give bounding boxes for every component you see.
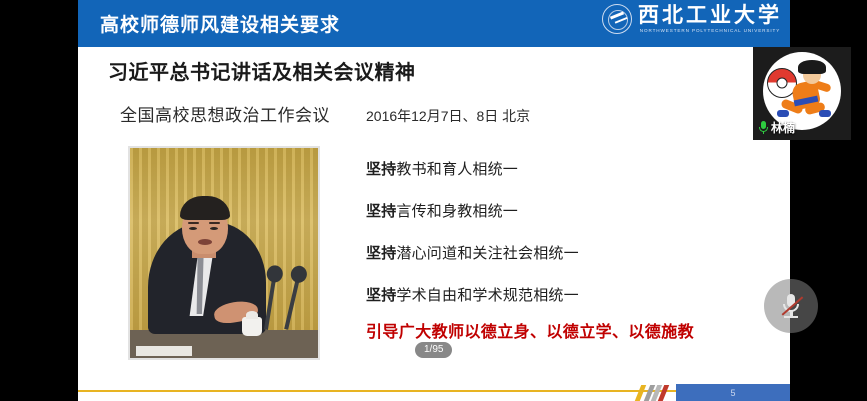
university-logo-text: 西北工业大学 NORTHWESTERN POLYTECHNICAL UNIVER… bbox=[638, 5, 782, 34]
microphone-on-icon bbox=[758, 121, 769, 134]
slide-subtitle-row: 全国高校思想政治工作会议 2016年12月7日、8日 北京 bbox=[120, 101, 530, 126]
avatar-boot-right bbox=[819, 110, 831, 117]
photo-speaker-eye-left bbox=[189, 227, 197, 230]
slide-number-block: 5 bbox=[676, 384, 790, 401]
slide-subtitle-date: 2016年12月7日、8日 北京 bbox=[366, 106, 530, 126]
slide-header-title: 高校师德师风建设相关要求 bbox=[100, 10, 340, 37]
university-seal-icon bbox=[602, 4, 632, 34]
bullet-lead: 坚持 bbox=[366, 203, 396, 220]
avatar-boot-left bbox=[777, 110, 789, 117]
photo-speaker-brow-left bbox=[188, 222, 199, 224]
photo-speaker-brow-right bbox=[209, 222, 220, 224]
mute-toggle-button[interactable] bbox=[764, 279, 818, 333]
video-participant-tile[interactable]: 林楠 bbox=[753, 47, 851, 140]
microphone-muted-icon bbox=[781, 293, 801, 319]
avatar-hair bbox=[798, 60, 826, 74]
university-logo: 西北工业大学 NORTHWESTERN POLYTECHNICAL UNIVER… bbox=[602, 4, 782, 34]
slide-footer-decoration: 5 bbox=[632, 383, 790, 401]
photo-teacup bbox=[242, 317, 262, 336]
participant-label: 林楠 bbox=[758, 119, 795, 136]
bullet-text: 潜心问道和关注社会相统一 bbox=[396, 245, 578, 262]
speaker-photo bbox=[128, 146, 320, 360]
participant-name: 林楠 bbox=[771, 119, 795, 136]
photo-papers bbox=[136, 346, 192, 356]
bullet-item: 坚持学术自由和学术规范相统一 bbox=[366, 284, 579, 305]
bullet-lead: 坚持 bbox=[366, 287, 396, 304]
slide-header-bar: 高校师德师风建设相关要求 西北工业大学 NORTHWESTERN POLYTEC… bbox=[78, 0, 790, 47]
bullet-text: 言传和身教相统一 bbox=[396, 203, 518, 220]
photo-speaker-eye-right bbox=[210, 227, 218, 230]
bullet-item: 坚持言传和身教相统一 bbox=[366, 200, 579, 221]
presentation-slide: 高校师德师风建设相关要求 西北工业大学 NORTHWESTERN POLYTEC… bbox=[78, 0, 790, 401]
screen-root: 高校师德师风建设相关要求 西北工业大学 NORTHWESTERN POLYTEC… bbox=[0, 0, 867, 401]
page-indicator-badge: 1/95 bbox=[415, 342, 452, 358]
mic-base bbox=[784, 316, 798, 319]
bullet-lead: 坚持 bbox=[366, 245, 396, 262]
university-name-en: NORTHWESTERN POLYTECHNICAL UNIVERSITY bbox=[638, 29, 782, 34]
bullet-list: 坚持教书和育人相统一 坚持言传和身教相统一 坚持潜心问道和关注社会相统一 坚持学… bbox=[366, 158, 579, 326]
bullet-text: 学术自由和学术规范相统一 bbox=[396, 287, 578, 304]
university-name-cn: 西北工业大学 bbox=[638, 5, 782, 26]
slide-subtitle-main: 全国高校思想政治工作会议 bbox=[120, 101, 330, 126]
bullet-lead: 坚持 bbox=[366, 161, 396, 178]
photo-speaker-mouth bbox=[198, 239, 212, 245]
mic-stem bbox=[763, 131, 765, 134]
slide-highlight-text: 引导广大教师以德立身、以德立学、以德施教 bbox=[366, 318, 694, 342]
bullet-item: 坚持教书和育人相统一 bbox=[366, 158, 579, 179]
slide-number: 5 bbox=[730, 388, 735, 398]
bullet-item: 坚持潜心问道和关注社会相统一 bbox=[366, 242, 579, 263]
slide-title: 习近平总书记讲话及相关会议精神 bbox=[108, 56, 416, 85]
bullet-text: 教书和育人相统一 bbox=[396, 161, 518, 178]
footer-stripes bbox=[632, 383, 676, 401]
